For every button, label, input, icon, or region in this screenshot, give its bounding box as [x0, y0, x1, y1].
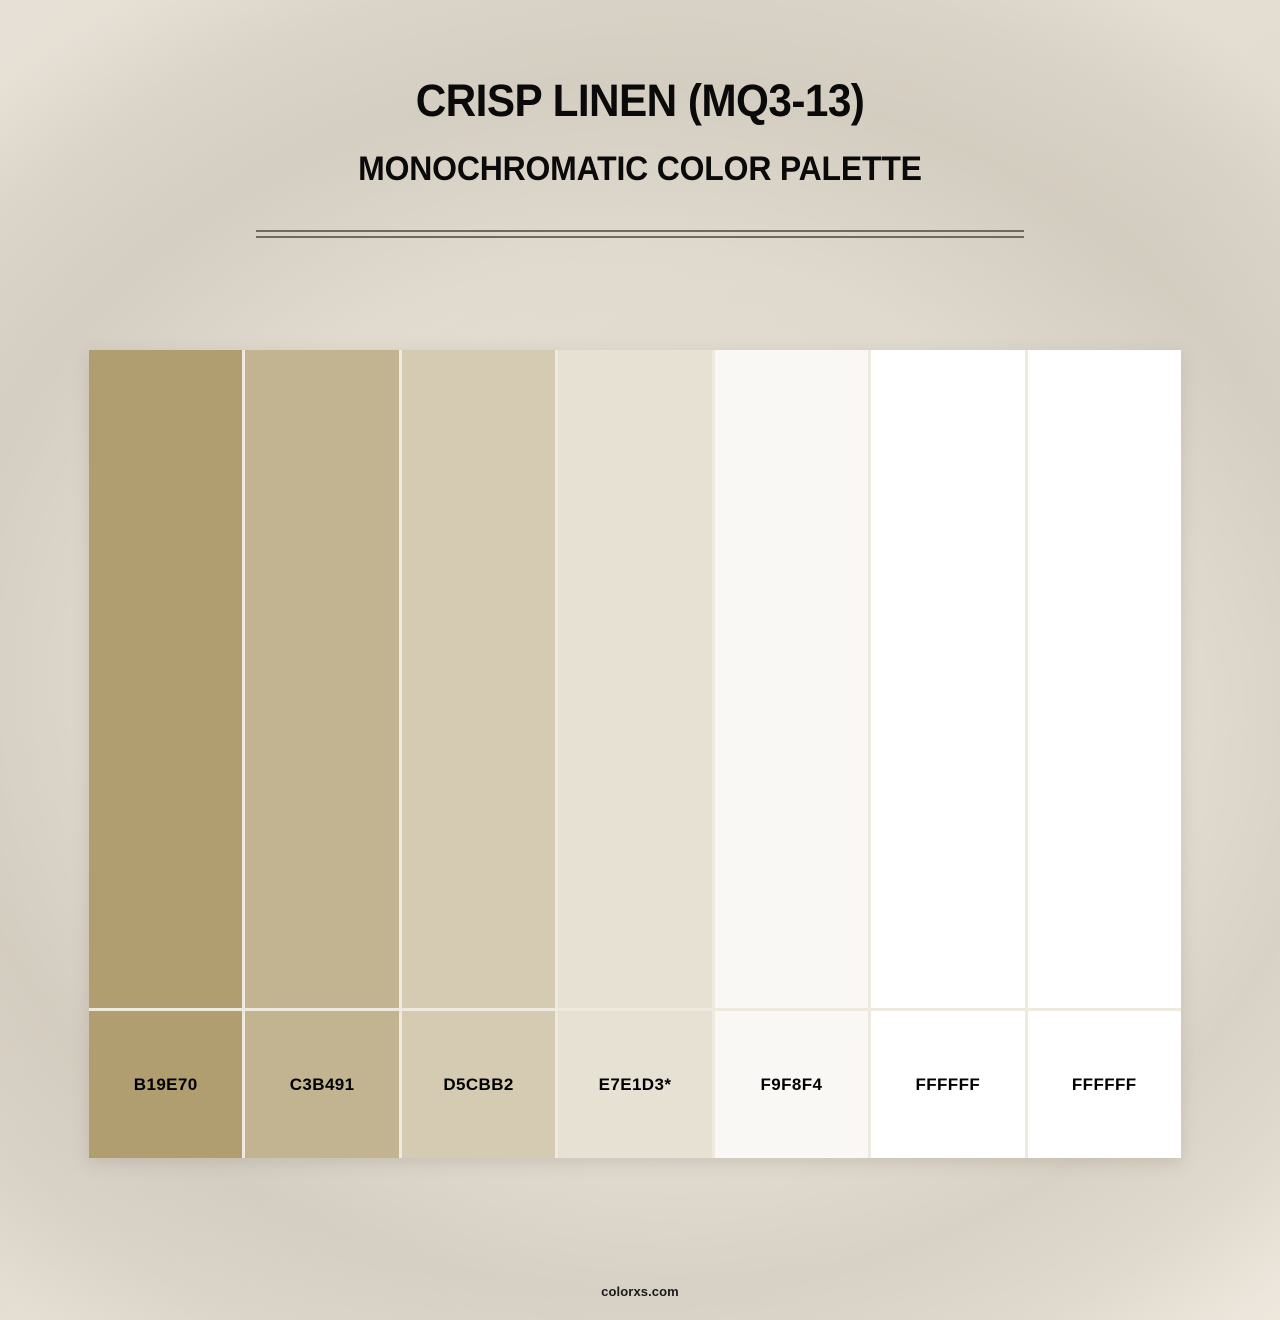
color-swatch-label-cell[interactable]: C3B491 — [245, 1011, 398, 1158]
color-swatch-label-cell[interactable]: B19E70 — [89, 1011, 242, 1158]
color-swatch[interactable] — [871, 350, 1024, 1008]
page-subtitle: MONOCHROMATIC COLOR PALETTE — [38, 123, 1241, 186]
divider-line-bottom — [256, 236, 1024, 238]
color-hex-label: F9F8F4 — [760, 1075, 822, 1095]
header: CRISP LINEN (MQ3-13) MONOCHROMATIC COLOR… — [0, 0, 1280, 186]
color-hex-label: B19E70 — [134, 1075, 198, 1095]
header-divider — [256, 230, 1024, 238]
color-swatch[interactable] — [558, 350, 711, 1008]
color-swatch-label-cell[interactable]: FFFFFF — [1028, 1011, 1181, 1158]
color-swatch[interactable] — [402, 350, 555, 1008]
footer: colorxs.com — [0, 1283, 1280, 1301]
color-hex-label: E7E1D3* — [599, 1075, 672, 1095]
color-swatch[interactable] — [1028, 350, 1181, 1008]
site-credit: colorxs.com — [601, 1284, 679, 1299]
color-swatch-label-cell[interactable]: FFFFFF — [871, 1011, 1024, 1158]
color-hex-label: FFFFFF — [1072, 1075, 1137, 1095]
color-swatch-label-cell[interactable]: F9F8F4 — [715, 1011, 868, 1158]
color-palette: B19E70C3B491D5CBB2E7E1D3*F9F8F4FFFFFFFFF… — [89, 350, 1181, 1158]
color-hex-label: D5CBB2 — [443, 1075, 513, 1095]
color-swatch-label-cell[interactable]: D5CBB2 — [402, 1011, 555, 1158]
color-swatch[interactable] — [715, 350, 868, 1008]
color-hex-label: FFFFFF — [915, 1075, 980, 1095]
swatch-label-row: B19E70C3B491D5CBB2E7E1D3*F9F8F4FFFFFFFFF… — [89, 1011, 1181, 1158]
color-swatch[interactable] — [89, 350, 242, 1008]
color-swatch-label-cell[interactable]: E7E1D3* — [558, 1011, 711, 1158]
swatch-row — [89, 350, 1181, 1008]
color-swatch[interactable] — [245, 350, 398, 1008]
color-hex-label: C3B491 — [290, 1075, 355, 1095]
page-title: CRISP LINEN (MQ3-13) — [38, 0, 1241, 123]
divider-line-top — [256, 230, 1024, 232]
